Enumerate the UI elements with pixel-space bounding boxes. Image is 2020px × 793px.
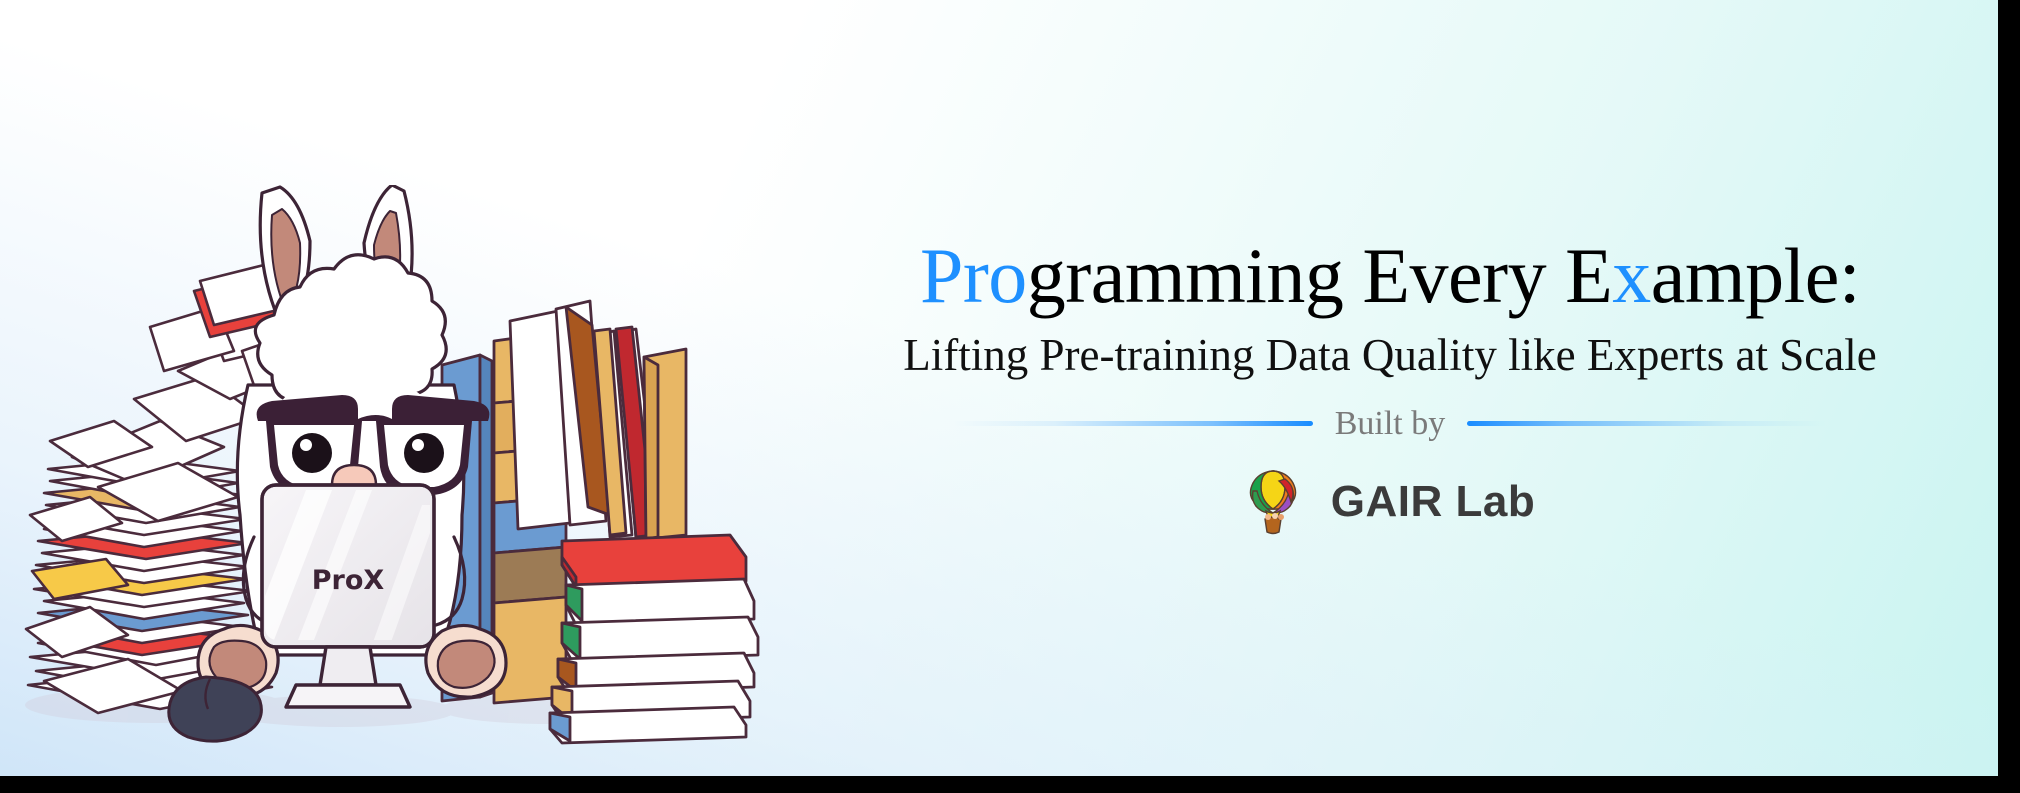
banner-root: ProX Programming Every Example: Lifting …	[0, 0, 2020, 793]
laptop-screen-label: ProX	[312, 565, 385, 596]
title-segment-1: gramming Every E	[1027, 232, 1613, 319]
hero-text-block: Programming Every Example: Lifting Pre-t…	[800, 236, 1980, 535]
built-by-divider: Built by	[800, 405, 1980, 443]
title-segment-0: Pro	[920, 232, 1027, 319]
frame-band-right	[1998, 0, 2020, 793]
divider-rule-left	[953, 421, 1313, 426]
built-by-label: Built by	[1335, 405, 1446, 443]
divider-rule-right	[1467, 421, 1827, 426]
hero-illustration: ProX	[10, 185, 800, 745]
lab-lockup[interactable]: GAIR Lab	[800, 469, 1980, 535]
frame-band-bottom	[0, 776, 2020, 793]
page-title: Programming Every Example:	[800, 236, 1980, 316]
page-subtitle: Lifting Pre-training Data Quality like E…	[800, 332, 1980, 379]
computer-mouse	[169, 677, 262, 741]
title-segment-2: x	[1612, 232, 1651, 319]
banner-canvas: ProX Programming Every Example: Lifting …	[0, 0, 1998, 776]
lab-name: GAIR Lab	[1331, 477, 1535, 527]
hot-air-balloon-icon	[1245, 469, 1301, 535]
title-segment-3: ample:	[1651, 232, 1860, 319]
